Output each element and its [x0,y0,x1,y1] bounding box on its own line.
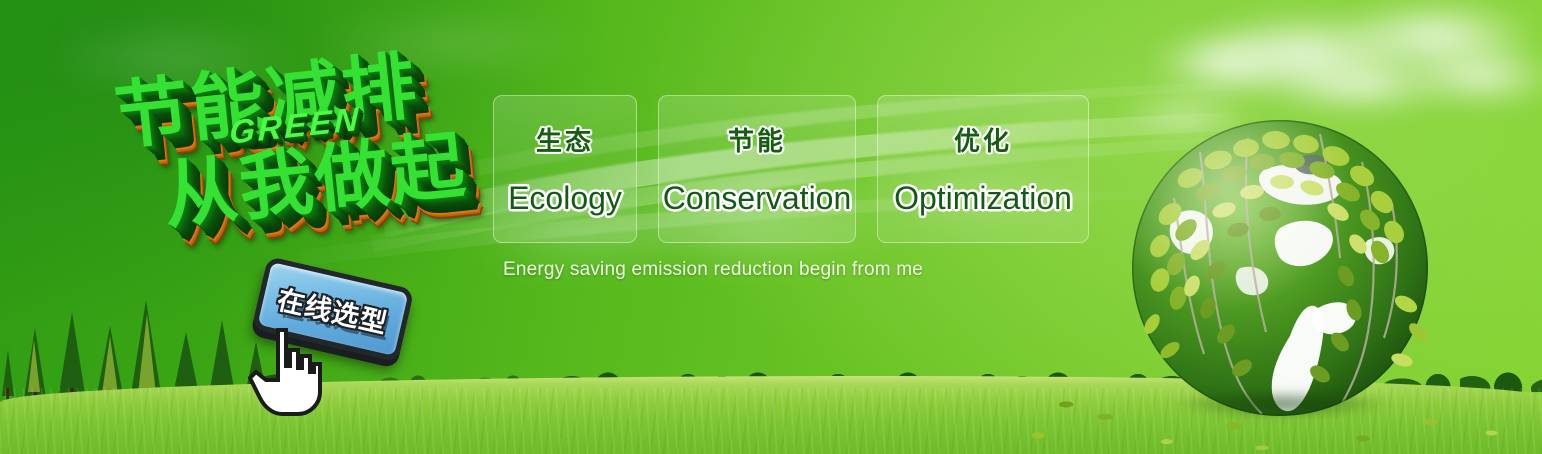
feature-card-title-en: Optimization [894,180,1072,217]
hand-pointer-icon [248,322,326,418]
earth-globe [1130,118,1430,418]
feature-card-conservation[interactable]: 节能 Conservation [658,95,856,243]
cloud-icon [1330,0,1540,74]
cloud-icon [1190,12,1420,98]
globe-illustration [1130,118,1430,418]
feature-card-title-en: Ecology [508,180,622,217]
feature-card-title-cn: 优化 [954,121,1012,158]
feature-card-title-en: Conservation [663,180,852,217]
tagline: Energy saving emission reduction begin f… [503,259,923,281]
green-energy-banner: 节能减排 GREEN 从我做起 在线选型 生态 Ecology 节能 Conse… [0,0,1542,454]
feature-card-ecology[interactable]: 生态 Ecology [493,95,637,243]
feature-card-title-cn: 生态 [536,121,594,158]
cloud-icon [1150,34,1300,92]
globe-shadow [1136,384,1428,424]
feature-card-list: 生态 Ecology 节能 Conservation 优化 Optimizati… [493,95,1089,243]
cloud-icon [1400,48,1542,104]
feature-card-title-cn: 节能 [728,121,786,158]
cloud-icon [1268,60,1458,110]
hero-headline: 节能减排 GREEN 从我做起 [93,18,515,289]
feature-card-optimization[interactable]: 优化 Optimization [877,95,1089,243]
